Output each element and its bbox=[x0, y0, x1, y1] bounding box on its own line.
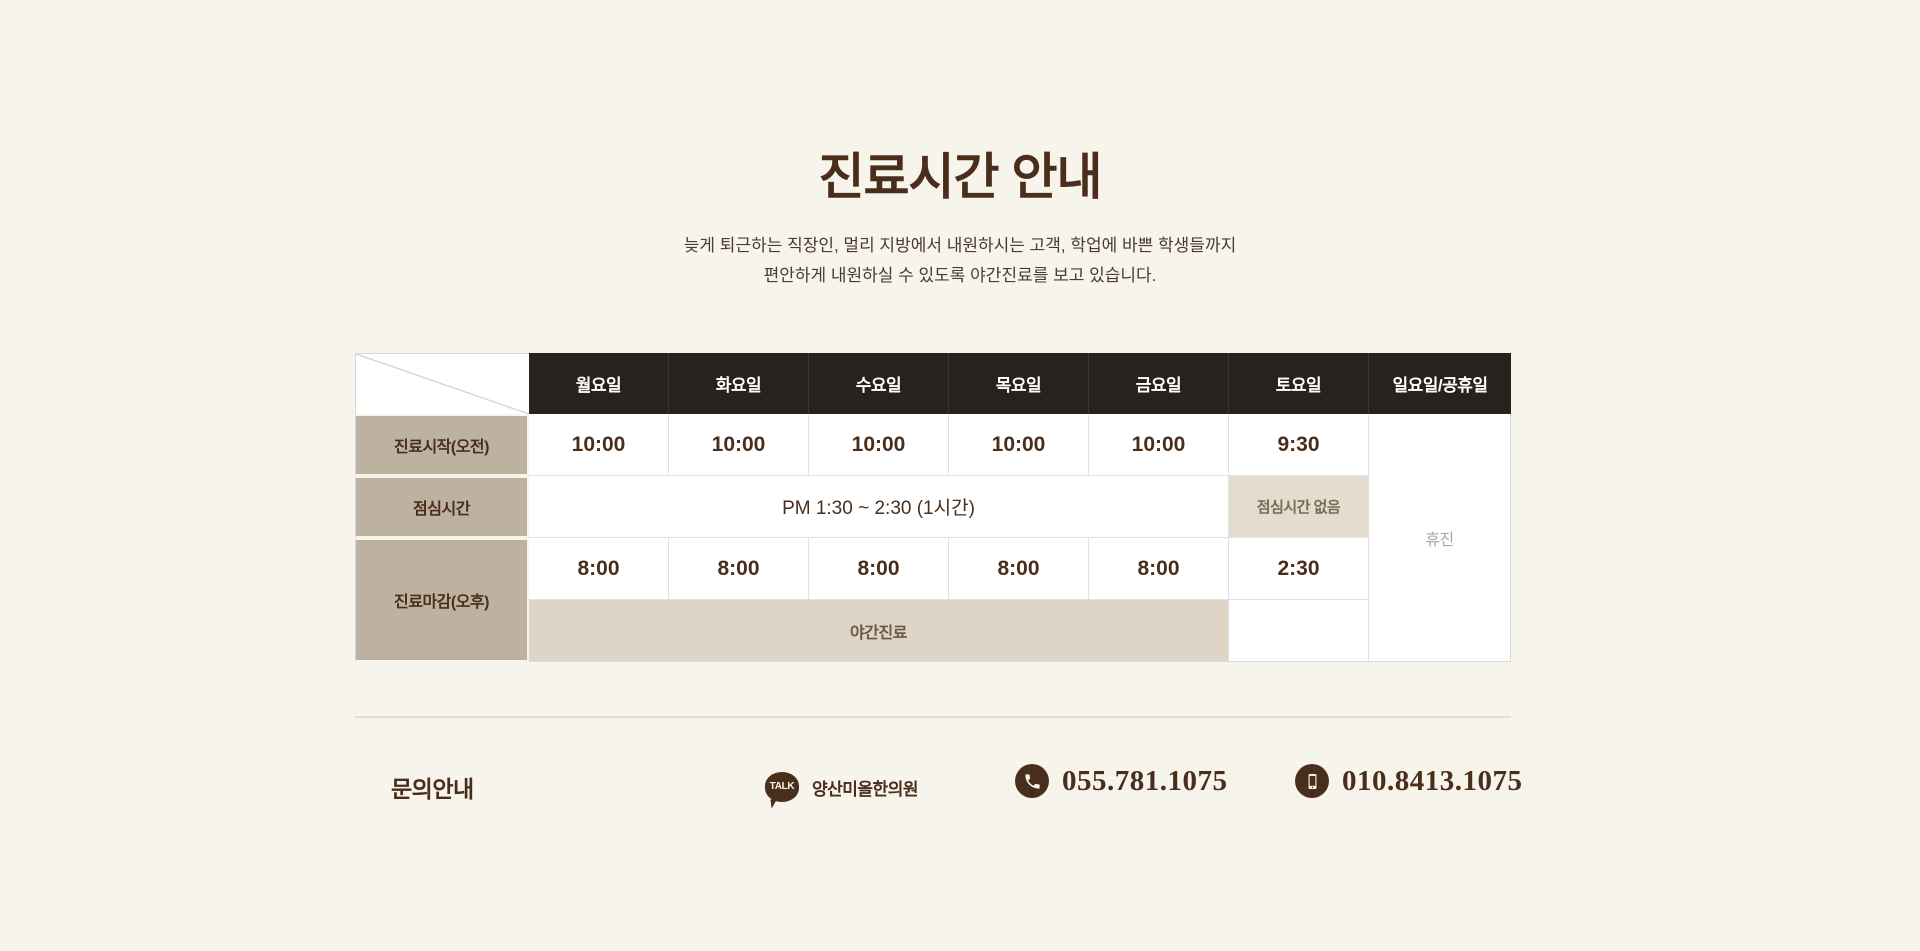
column-header-saturday: 토요일 bbox=[1229, 353, 1369, 414]
telephone-number: 055.781.1075 bbox=[1062, 765, 1228, 798]
column-header-wednesday: 수요일 bbox=[809, 353, 949, 414]
schedule-table-wrapper: 월요일 화요일 수요일 목요일 금요일 토요일 일요일/공휴일 진료시작(오전)… bbox=[355, 353, 1511, 662]
lunch-time-saturday: 점심시간 없음 bbox=[1229, 476, 1369, 538]
kakaotalk-icon-label: TALK bbox=[770, 782, 795, 792]
sunday-holiday-closed-cell: 휴진 bbox=[1369, 414, 1511, 662]
lunch-time-weekday: PM 1:30 ~ 2:30 (1시간) bbox=[529, 476, 1229, 538]
open-time-tuesday: 10:00 bbox=[669, 414, 809, 476]
open-time-saturday: 9:30 bbox=[1229, 414, 1369, 476]
kakaotalk-icon: TALK bbox=[765, 772, 799, 802]
contact-telephone[interactable]: 055.781.1075 bbox=[1015, 764, 1228, 798]
contact-footer: 문의안내 TALK 양산미올한의원 055.781.1075 bbox=[355, 760, 1511, 820]
table-row-opening: 진료시작(오전) 10:00 10:00 10:00 10:00 10:00 9… bbox=[355, 414, 1511, 476]
table-row-night: 야간진료 bbox=[355, 600, 1511, 662]
column-header-tuesday: 화요일 bbox=[669, 353, 809, 414]
phone-icon bbox=[1015, 764, 1049, 798]
table-row-lunch: 점심시간 PM 1:30 ~ 2:30 (1시간) 점심시간 없음 bbox=[355, 476, 1511, 538]
footer-divider bbox=[355, 716, 1511, 718]
diagonal-slash-icon bbox=[356, 354, 529, 414]
mobile-phone-icon bbox=[1295, 764, 1329, 798]
open-time-monday: 10:00 bbox=[529, 414, 669, 476]
schedule-table: 월요일 화요일 수요일 목요일 금요일 토요일 일요일/공휴일 진료시작(오전)… bbox=[355, 353, 1511, 662]
close-time-saturday: 2:30 bbox=[1229, 538, 1369, 600]
contact-kakao[interactable]: TALK 양산미올한의원 bbox=[765, 772, 918, 802]
table-corner-cell bbox=[355, 353, 529, 414]
row-label-opening: 진료시작(오전) bbox=[355, 414, 529, 476]
close-time-thursday: 8:00 bbox=[949, 538, 1089, 600]
column-header-thursday: 목요일 bbox=[949, 353, 1089, 414]
subtitle-line-2: 편안하게 내원하실 수 있도록 야간진료를 보고 있습니다. bbox=[0, 261, 1920, 291]
night-treatment-saturday-empty bbox=[1229, 600, 1369, 662]
close-time-tuesday: 8:00 bbox=[669, 538, 809, 600]
close-time-monday: 8:00 bbox=[529, 538, 669, 600]
column-header-sunday-holiday: 일요일/공휴일 bbox=[1369, 353, 1511, 414]
clinic-hours-page: 진료시간 안내 늦게 퇴근하는 직장인, 멀리 지방에서 내원하시는 고객, 학… bbox=[0, 0, 1920, 951]
page-subtitle: 늦게 퇴근하는 직장인, 멀리 지방에서 내원하시는 고객, 학업에 바쁜 학생… bbox=[0, 231, 1920, 291]
close-time-friday: 8:00 bbox=[1089, 538, 1229, 600]
column-header-friday: 금요일 bbox=[1089, 353, 1229, 414]
open-time-thursday: 10:00 bbox=[949, 414, 1089, 476]
row-label-lunch: 점심시간 bbox=[355, 476, 529, 538]
table-row-closing: 진료마감(오후) 8:00 8:00 8:00 8:00 8:00 2:30 bbox=[355, 538, 1511, 600]
table-header-row: 월요일 화요일 수요일 목요일 금요일 토요일 일요일/공휴일 bbox=[355, 353, 1511, 414]
page-header: 진료시간 안내 늦게 퇴근하는 직장인, 멀리 지방에서 내원하시는 고객, 학… bbox=[0, 150, 1920, 291]
row-label-closing: 진료마감(오후) bbox=[355, 538, 529, 662]
contact-section-title: 문의안내 bbox=[391, 770, 474, 804]
close-time-wednesday: 8:00 bbox=[809, 538, 949, 600]
mobile-number: 010.8413.1075 bbox=[1342, 765, 1523, 798]
night-treatment-band: 야간진료 bbox=[529, 600, 1229, 662]
subtitle-line-1: 늦게 퇴근하는 직장인, 멀리 지방에서 내원하시는 고객, 학업에 바쁜 학생… bbox=[0, 231, 1920, 261]
contact-mobile[interactable]: 010.8413.1075 bbox=[1295, 764, 1523, 798]
column-header-monday: 월요일 bbox=[529, 353, 669, 414]
kakaotalk-icon-tail bbox=[770, 799, 778, 809]
page-title: 진료시간 안내 bbox=[0, 150, 1920, 205]
kakao-channel-name: 양산미올한의원 bbox=[812, 775, 918, 800]
open-time-friday: 10:00 bbox=[1089, 414, 1229, 476]
open-time-wednesday: 10:00 bbox=[809, 414, 949, 476]
